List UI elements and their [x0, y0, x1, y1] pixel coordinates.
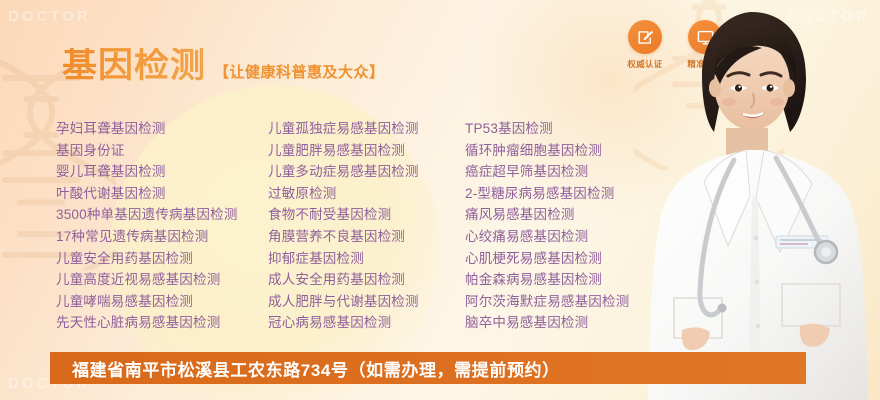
service-list: 孕妇耳聋基因检测 基因身份证 婴儿耳聋基因检测 叶酸代谢基因检测 3500种单基… — [56, 118, 675, 334]
edit-document-icon — [636, 28, 655, 47]
feature-label: 权威认证 — [627, 58, 662, 70]
feature-circle — [748, 20, 782, 54]
list-item: 婴儿耳聋基因检测 — [56, 161, 268, 183]
list-item: 角膜营养不良基因检测 — [268, 226, 465, 248]
list-item: 儿童高度近视易感基因检测 — [56, 269, 268, 291]
list-item: 3500种单基因遗传病基因检测 — [56, 204, 268, 226]
list-item: 成人肥胖与代谢基因检测 — [268, 291, 465, 313]
headline-group: 基因检测 【让健康科普惠及大众】 — [62, 48, 385, 83]
list-item: 癌症超早筛基因检测 — [465, 161, 675, 183]
address-text: 福建省南平市松溪县工农东路734号（如需办理，需提前预约） — [72, 356, 560, 381]
list-item: 儿童安全用药基因检测 — [56, 248, 268, 270]
list-item: 基因身份证 — [56, 140, 268, 162]
list-item: 儿童孤独症易感基因检测 — [268, 118, 465, 140]
service-column-3: TP53基因检测 循环肿瘤细胞基因检测 癌症超早筛基因检测 2-型糖尿病易感基因… — [465, 118, 675, 334]
feature-circle — [688, 20, 722, 54]
monitor-icon — [696, 28, 715, 47]
feature-badges: 权威认证 精准分型 轻松自检 — [620, 20, 790, 70]
list-item: 食物不耐受基因检测 — [268, 204, 465, 226]
list-item: 成人安全用药基因检测 — [268, 269, 465, 291]
list-item: 17种常见遗传病基因检测 — [56, 226, 268, 248]
list-item: 帕金森病易感基因检测 — [465, 269, 675, 291]
gene-testing-promo-banner: DOCTOR DOCTOR DOCTOR 基因检测 【让健康科普惠及大众】 权威… — [0, 0, 880, 400]
watermark-top-left: DOCTOR — [8, 8, 91, 25]
watermark-top-right: DOCTOR — [787, 8, 870, 25]
list-item: 过敏原检测 — [268, 183, 465, 205]
list-item: 冠心病易感基因检测 — [268, 312, 465, 334]
service-column-1: 孕妇耳聋基因检测 基因身份证 婴儿耳聋基因检测 叶酸代谢基因检测 3500种单基… — [56, 118, 268, 334]
feature-precise-typing[interactable]: 精准分型 — [680, 20, 730, 70]
list-item: 心绞痛易感基因检测 — [465, 226, 675, 248]
list-item: TP53基因检测 — [465, 118, 675, 140]
list-item: 抑郁症基因检测 — [268, 248, 465, 270]
page-title: 基因检测 — [62, 48, 206, 83]
feature-label: 精准分型 — [687, 58, 722, 70]
feature-label: 轻松自检 — [747, 58, 782, 70]
list-item: 孕妇耳聋基因检测 — [56, 118, 268, 140]
feature-easy-self-check[interactable]: 轻松自检 — [740, 20, 790, 70]
list-item: 先天性心脏病易感基因检测 — [56, 312, 268, 334]
list-item: 儿童肥胖易感基因检测 — [268, 140, 465, 162]
service-column-2: 儿童孤独症易感基因检测 儿童肥胖易感基因检测 儿童多动症易感基因检测 过敏原检测… — [268, 118, 465, 334]
feature-circle — [628, 20, 662, 54]
report-icon — [756, 28, 775, 47]
list-item: 2-型糖尿病易感基因检测 — [465, 183, 675, 205]
list-item: 儿童多动症易感基因检测 — [268, 161, 465, 183]
list-item: 痛风易感基因检测 — [465, 204, 675, 226]
list-item: 心肌梗死易感基因检测 — [465, 248, 675, 270]
address-banner: 福建省南平市松溪县工农东路734号（如需办理，需提前预约） — [50, 352, 806, 384]
list-item: 循环肿瘤细胞基因检测 — [465, 140, 675, 162]
list-item: 儿童哮喘易感基因检测 — [56, 291, 268, 313]
list-item: 叶酸代谢基因检测 — [56, 183, 268, 205]
feature-authority-certification[interactable]: 权威认证 — [620, 20, 670, 70]
page-subtitle: 【让健康科普惠及大众】 — [214, 65, 385, 83]
list-item: 阿尔茨海默症易感基因检测 — [465, 291, 675, 313]
list-item: 脑卒中易感基因检测 — [465, 312, 675, 334]
